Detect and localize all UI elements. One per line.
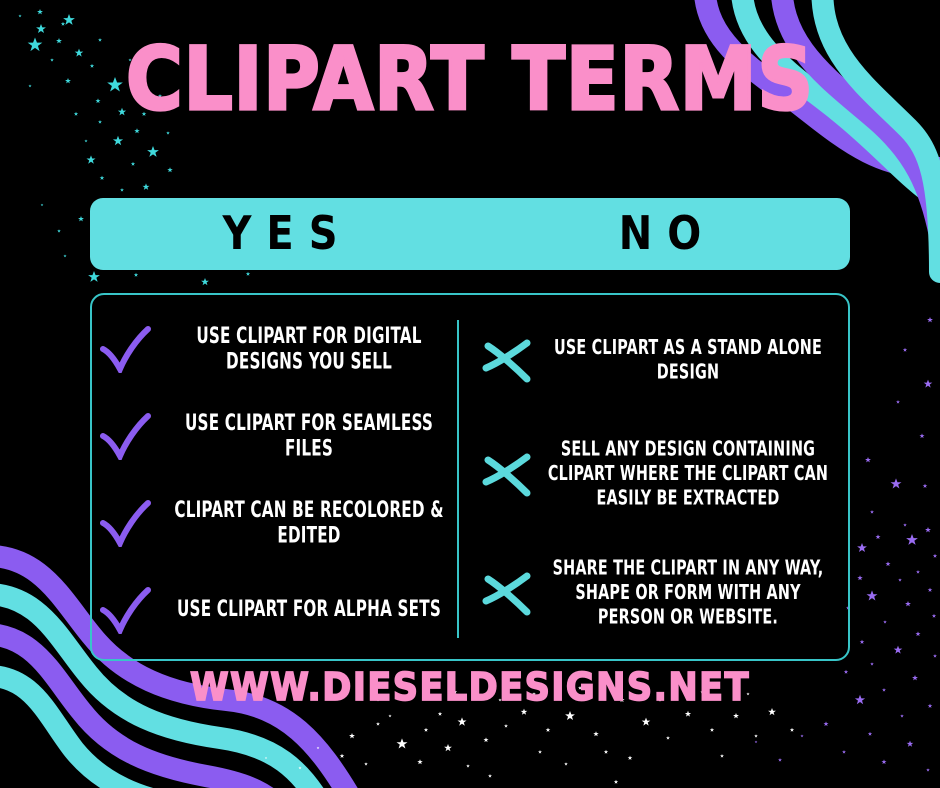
list-item-label: CLIPART CAN BE RECOLORED & EDITED [165, 497, 453, 548]
header-no-label: NO [604, 208, 716, 261]
check-icon [98, 325, 152, 373]
column-divider [457, 320, 459, 638]
list-item: CLIPART CAN BE RECOLORED & EDITED [98, 499, 462, 547]
check-icon [98, 586, 152, 634]
list-item-label: USE CLIPART FOR ALPHA SETS [165, 597, 453, 623]
page-title: CLIPART TERMS [0, 33, 940, 129]
check-icon [98, 412, 152, 460]
list-item: USE CLIPART FOR SEAMLESS FILES [98, 412, 462, 460]
list-item-label: SHARE THE CLIPART IN ANY WAY, SHAPE OR F… [547, 557, 829, 630]
list-item: USE CLIPART FOR ALPHA SETS [98, 586, 462, 634]
cross-icon [480, 568, 534, 618]
cross-icon [480, 449, 534, 499]
list-item: SHARE THE CLIPART IN ANY WAY, SHAPE OR F… [480, 563, 838, 623]
terms-content-box: USE CLIPART FOR DIGITAL DESIGNS YOU SELL… [90, 293, 850, 661]
header-yes: YES [90, 193, 470, 276]
list-item-label: USE CLIPART FOR SEAMLESS FILES [165, 410, 453, 461]
check-icon [98, 499, 152, 547]
poster-canvas: CLIPART TERMS YES NO USE CLIPART FOR DIG… [0, 0, 940, 788]
cross-icon [480, 335, 534, 385]
header-yes-label: YES [207, 208, 352, 261]
no-column: USE CLIPART AS A STAND ALONE DESIGN SELL… [470, 295, 848, 659]
list-item-label: SELL ANY DESIGN CONTAINING CLIPART WHERE… [547, 437, 829, 510]
yes-no-header-bar: YES NO [90, 198, 850, 270]
list-item-label: USE CLIPART AS A STAND ALONE DESIGN [547, 335, 829, 384]
footer-website-url: WWW.DIESELDESIGNS.NET [0, 666, 940, 710]
list-item: USE CLIPART FOR DIGITAL DESIGNS YOU SELL [98, 325, 462, 373]
list-item-label: USE CLIPART FOR DIGITAL DESIGNS YOU SELL [165, 323, 453, 374]
list-item: SELL ANY DESIGN CONTAINING CLIPART WHERE… [480, 444, 838, 504]
yes-column: USE CLIPART FOR DIGITAL DESIGNS YOU SELL… [92, 295, 470, 659]
header-no: NO [470, 193, 850, 276]
list-item: USE CLIPART AS A STAND ALONE DESIGN [480, 335, 838, 385]
